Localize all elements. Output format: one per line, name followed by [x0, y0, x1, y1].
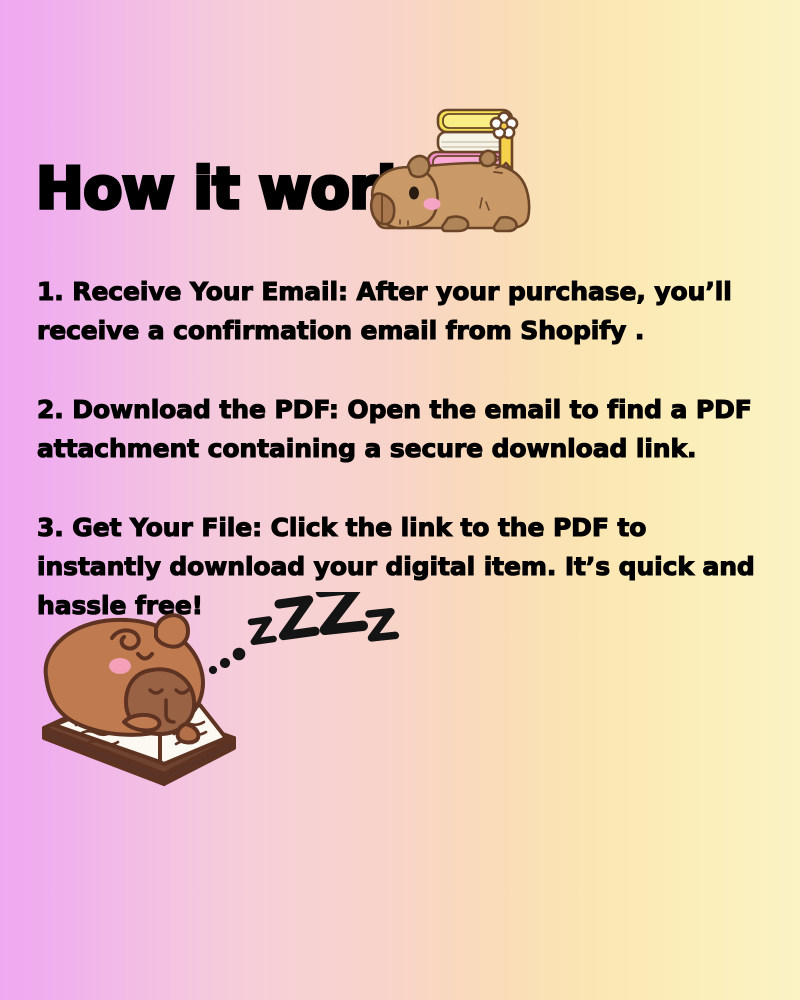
step-item-1: 1. Receive Your Email: After your purcha…	[37, 272, 761, 350]
step-item-3: 3. Get Your File: Click the link to the …	[37, 508, 761, 625]
flower-icon-top	[491, 113, 517, 138]
top-book-icon	[438, 110, 512, 132]
bookmark-icon	[500, 132, 512, 170]
second-book-icon	[438, 132, 510, 152]
capybara-muzzle	[126, 669, 194, 734]
steps-list: 1. Receive Your Email: After your purcha…	[37, 272, 761, 625]
zzz-dot-1	[209, 666, 216, 673]
open-book-icon	[44, 696, 234, 784]
page-title: How it works	[36, 158, 448, 220]
poster-canvas: How it works	[0, 0, 800, 1000]
zzz-dot-3	[233, 648, 245, 660]
zzz-dot-2	[220, 658, 229, 667]
closed-eye-icon	[138, 654, 152, 659]
step-item-2: 2. Download the PDF: Open the email to f…	[37, 390, 761, 468]
blush-icon	[109, 658, 131, 674]
capybara-sleeping-body	[46, 615, 203, 742]
